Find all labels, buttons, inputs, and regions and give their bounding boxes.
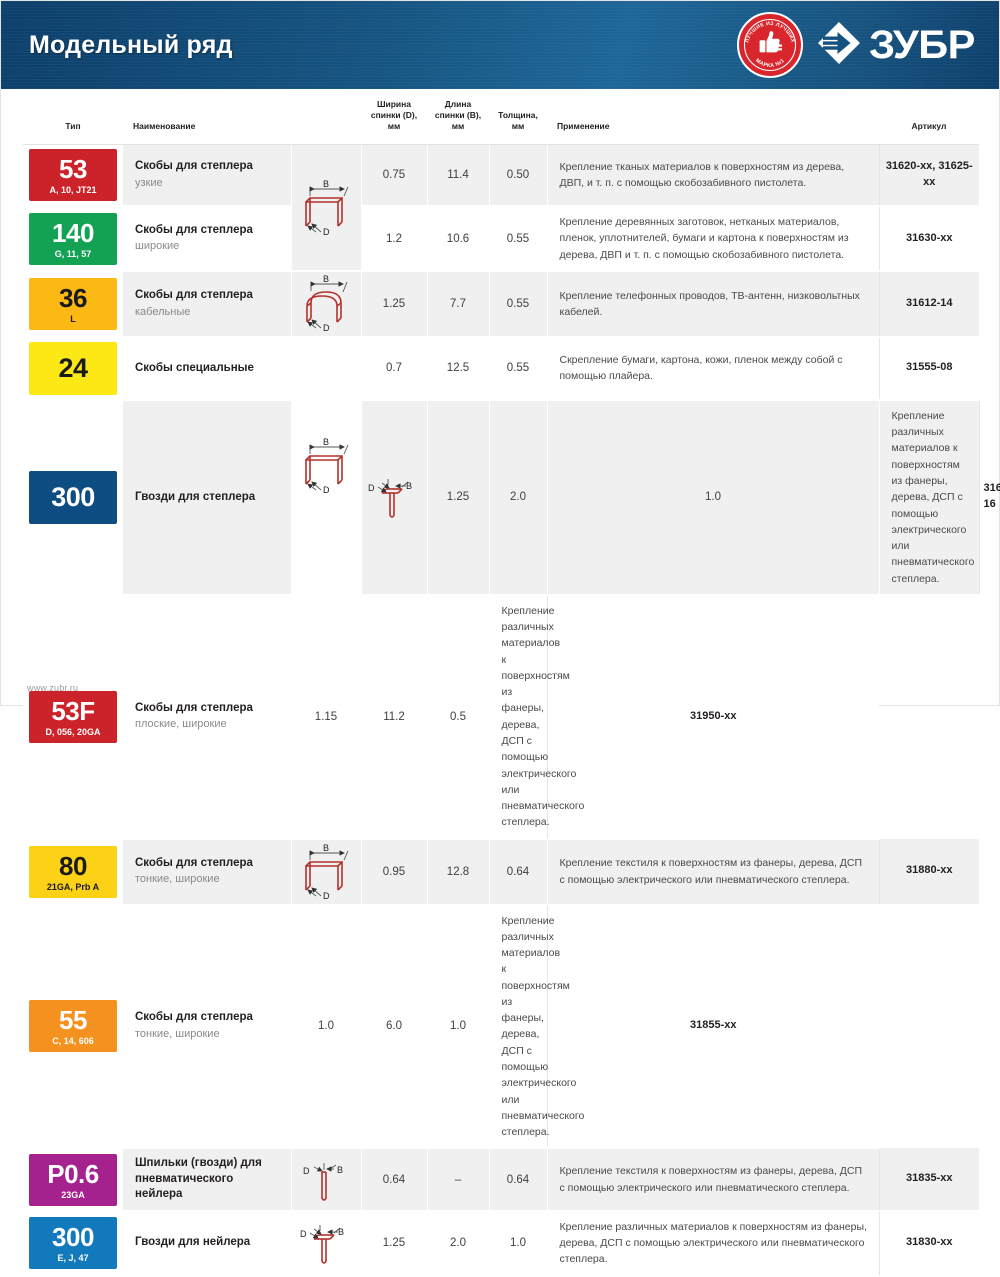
cell-diagram: BD bbox=[361, 400, 427, 595]
col-header-picture bbox=[291, 89, 361, 145]
product-name: Скобы специальные bbox=[135, 361, 283, 377]
cell-type: 53FD, 056, 20GA bbox=[23, 595, 123, 839]
type-badge-number: 53F bbox=[31, 698, 115, 724]
table-row: 55C, 14, 606Скобы для степлератонкие, ши… bbox=[23, 905, 979, 1149]
table-row: 300Гвозди для степлераBD1.252.01.0Крепле… bbox=[23, 400, 979, 595]
cell-thickness: 0.55 bbox=[489, 271, 547, 337]
table-row: 53FD, 056, 20GAСкобы для степлераплоские… bbox=[23, 595, 979, 839]
type-badge: 300 bbox=[29, 471, 117, 524]
type-badge: 24 bbox=[29, 342, 117, 395]
footer-website: www.zubr.ru bbox=[27, 683, 78, 693]
cell-length: 7.7 bbox=[427, 271, 489, 337]
staple-square-icon: BD bbox=[292, 434, 361, 498]
svg-text:D: D bbox=[303, 1166, 310, 1176]
type-badge: 140G, 11, 57 bbox=[29, 213, 117, 265]
svg-text:D: D bbox=[323, 891, 330, 901]
model-range-table: Тип Наименование Ширина спинки (D), мм Д… bbox=[23, 89, 979, 1277]
cell-application: Крепление деревянных заготовок, нетканых… bbox=[547, 206, 879, 271]
cell-width: 0.64 bbox=[361, 1148, 427, 1211]
brand-name: ЗУБР bbox=[869, 25, 975, 65]
product-subtitle: тонкие, широкие bbox=[135, 1027, 283, 1042]
svg-text:B: B bbox=[337, 1165, 343, 1175]
cell-application: Крепление различных материалов к поверхн… bbox=[489, 905, 547, 1149]
cell-diagram: BD bbox=[291, 145, 361, 271]
cell-name: Скобы для степлераузкие bbox=[123, 145, 291, 207]
brand-logo: ЛУЧШИЕ ИЗ ЛУЧШИХ МАРКА №1 bbox=[737, 12, 973, 78]
cell-length: 12.8 bbox=[427, 839, 489, 905]
svg-text:D: D bbox=[368, 483, 375, 493]
cell-article: 31630-xx bbox=[879, 206, 979, 271]
type-badge-subcodes: E, J, 47 bbox=[31, 1254, 115, 1263]
cell-type: P0.623GA bbox=[23, 1148, 123, 1211]
cell-type: 36L bbox=[23, 271, 123, 337]
cell-type: 140G, 11, 57 bbox=[23, 206, 123, 271]
cell-article: 31855-xx bbox=[547, 905, 879, 1149]
cell-diagram: BD bbox=[291, 839, 361, 905]
cell-type: 8021GA, Prb A bbox=[23, 839, 123, 905]
col-header-article: Артикул bbox=[879, 89, 979, 145]
type-badge-subcodes: A, 10, JT21 bbox=[31, 186, 115, 195]
type-badge-number: 24 bbox=[31, 355, 115, 382]
cell-article: 31880-xx bbox=[879, 839, 979, 905]
cell-name: Скобы для степлераширокие bbox=[123, 206, 291, 271]
cell-type: 300 bbox=[23, 400, 123, 595]
cell-name: Скобы для степлеракабельные bbox=[123, 271, 291, 337]
cell-thickness: 0.55 bbox=[489, 337, 547, 400]
cell-width: 1.15 bbox=[291, 595, 361, 839]
cell-name: Скобы для степлераплоские, широкие bbox=[123, 595, 291, 839]
type-badge-number: 53 bbox=[31, 156, 115, 182]
col-header-thickness-line2: мм bbox=[512, 121, 525, 131]
cell-length: 11.2 bbox=[361, 595, 427, 839]
page-header: Модельный ряд bbox=[1, 1, 999, 89]
svg-text:B: B bbox=[323, 274, 329, 284]
type-badge-number: 55 bbox=[31, 1007, 115, 1033]
product-name: Гвозди для нейлера bbox=[135, 1235, 283, 1251]
cell-application: Крепление различных материалов к поверхн… bbox=[489, 595, 547, 839]
cell-application: Крепление телефонных проводов, ТВ-антенн… bbox=[547, 271, 879, 337]
svg-text:B: B bbox=[406, 481, 412, 491]
model-range-sheet: Модельный ряд bbox=[0, 0, 1000, 706]
cell-name: Скобы для степлератонкие, широкие bbox=[123, 839, 291, 905]
cell-article: 31950-xx bbox=[547, 595, 879, 839]
svg-text:B: B bbox=[323, 843, 329, 853]
cell-thickness: 1.0 bbox=[427, 905, 489, 1149]
svg-text:D: D bbox=[323, 485, 330, 495]
col-header-application: Применение bbox=[547, 89, 879, 145]
cell-width: 1.25 bbox=[361, 1211, 427, 1276]
col-header-thickness-line1: Толщина, bbox=[498, 110, 538, 120]
type-badge-number: P0.6 bbox=[31, 1161, 115, 1187]
product-name: Скобы для степлера bbox=[135, 159, 283, 175]
col-header-thickness: Толщина, мм bbox=[489, 89, 547, 145]
quality-seal-icon: ЛУЧШИЕ ИЗ ЛУЧШИХ МАРКА №1 bbox=[737, 12, 803, 78]
cell-application: Крепление текстиля к поверхностям из фан… bbox=[547, 839, 879, 905]
table-row: 24Скобы специальныеBD0.712.50.55Скреплен… bbox=[23, 337, 979, 400]
staple-square-icon: BD bbox=[292, 176, 361, 240]
type-badge-subcodes: D, 056, 20GA bbox=[31, 728, 115, 737]
svg-text:B: B bbox=[323, 179, 329, 189]
type-badge-number: 80 bbox=[31, 853, 115, 879]
staple-round-icon: BD bbox=[292, 272, 361, 336]
cell-application: Крепление тканых материалов к поверхност… bbox=[547, 145, 879, 207]
type-badge-number: 300 bbox=[31, 1224, 115, 1250]
nail-t-icon: BD bbox=[362, 467, 427, 527]
cell-length: 10.6 bbox=[427, 206, 489, 271]
cell-name: Гвозди для степлера bbox=[123, 400, 291, 595]
product-name: Скобы для степлера bbox=[135, 223, 283, 239]
svg-text:D: D bbox=[323, 323, 330, 333]
cell-width: 1.25 bbox=[427, 400, 489, 595]
cell-width: 1.2 bbox=[361, 206, 427, 271]
table-row: 8021GA, Prb AСкобы для степлератонкие, ш… bbox=[23, 839, 979, 905]
table-row: 140G, 11, 57Скобы для степлераширокие1.2… bbox=[23, 206, 979, 271]
type-badge-subcodes: C, 14, 606 bbox=[31, 1037, 115, 1046]
product-subtitle: широкие bbox=[135, 239, 283, 254]
cell-diagram: BD bbox=[291, 271, 361, 337]
cell-thickness: 0.64 bbox=[489, 1148, 547, 1211]
product-name: Гвозди для степлера bbox=[135, 490, 283, 506]
col-header-name: Наименование bbox=[123, 89, 291, 145]
col-header-width-line2: спинки (D), мм bbox=[371, 110, 417, 131]
svg-text:D: D bbox=[300, 1229, 307, 1239]
cell-type: 300E, J, 47 bbox=[23, 1211, 123, 1276]
cell-name: Шпильки (гвозди) для пневматического ней… bbox=[123, 1148, 291, 1211]
cell-type: 53A, 10, JT21 bbox=[23, 145, 123, 207]
col-header-length-line2: спинки (B), мм bbox=[435, 110, 481, 131]
cell-name: Гвозди для нейлера bbox=[123, 1211, 291, 1276]
type-badge: P0.623GA bbox=[29, 1154, 117, 1206]
table-row: 53A, 10, JT21Скобы для степлераузкиеBD0.… bbox=[23, 145, 979, 207]
type-badge: 300E, J, 47 bbox=[29, 1217, 117, 1269]
cell-thickness: 0.50 bbox=[489, 145, 547, 207]
cell-thickness: 0.55 bbox=[489, 206, 547, 271]
svg-text:B: B bbox=[323, 437, 329, 447]
cell-type: 55C, 14, 606 bbox=[23, 905, 123, 1149]
type-badge: 53FD, 056, 20GA bbox=[29, 691, 117, 743]
type-badge-number: 300 bbox=[31, 484, 115, 511]
cell-thickness: 0.64 bbox=[489, 839, 547, 905]
type-badge-subcodes: 21GA, Prb A bbox=[31, 883, 115, 892]
cell-width: 0.7 bbox=[361, 337, 427, 400]
type-badge-subcodes: 23GA bbox=[31, 1191, 115, 1200]
cell-article: 31830-xx bbox=[879, 1211, 979, 1276]
nail-t-icon: BD bbox=[292, 1213, 361, 1273]
cell-thickness: 1.0 bbox=[489, 1211, 547, 1276]
cell-application: Крепление различных материалов к поверхн… bbox=[879, 400, 979, 595]
cell-length: 6.0 bbox=[361, 905, 427, 1149]
type-badge: 36L bbox=[29, 278, 117, 330]
table-body: 53A, 10, JT21Скобы для степлераузкиеBD0.… bbox=[23, 145, 979, 1276]
page-title: Модельный ряд bbox=[29, 31, 233, 60]
product-name: Скобы для степлера bbox=[135, 288, 283, 304]
cell-application: Скрепление бумаги, картона, кожи, пленок… bbox=[547, 337, 879, 400]
svg-text:D: D bbox=[323, 227, 330, 237]
table-row: 36LСкобы для степлеракабельныеBD1.257.70… bbox=[23, 271, 979, 337]
product-subtitle: кабельные bbox=[135, 305, 283, 320]
cell-length: 2.0 bbox=[427, 1211, 489, 1276]
product-name: Скобы для степлера bbox=[135, 1010, 283, 1026]
cell-article: 31612-14 bbox=[879, 271, 979, 337]
type-badge: 55C, 14, 606 bbox=[29, 1000, 117, 1052]
pin-straight-icon: BD bbox=[292, 1152, 361, 1208]
table-row: P0.623GAШпильки (гвозди) для пневматичес… bbox=[23, 1148, 979, 1211]
cell-width: 0.95 bbox=[361, 839, 427, 905]
product-name: Скобы для степлера bbox=[135, 856, 283, 872]
type-badge-subcodes: G, 11, 57 bbox=[31, 250, 115, 259]
cell-thickness: 1.0 bbox=[547, 400, 879, 595]
cell-name: Скобы для степлератонкие, широкие bbox=[123, 905, 291, 1149]
cell-application: Крепление текстиля к поверхностям из фан… bbox=[547, 1148, 879, 1211]
cell-diagram: BD bbox=[291, 337, 361, 595]
cell-article: 31620-xx, 31625-xx bbox=[879, 145, 979, 207]
col-header-length-line1: Длина bbox=[445, 99, 472, 109]
cell-diagram: BD bbox=[291, 1148, 361, 1211]
product-name: Скобы для степлера bbox=[135, 701, 283, 717]
staple-square-icon: BD bbox=[292, 840, 361, 904]
type-badge-number: 36 bbox=[31, 285, 115, 311]
cell-length: 11.4 bbox=[427, 145, 489, 207]
product-subtitle: узкие bbox=[135, 176, 283, 191]
cell-article: 31555-08 bbox=[879, 337, 979, 400]
zubr-arrow-icon bbox=[817, 21, 861, 70]
type-badge: 53A, 10, JT21 bbox=[29, 149, 117, 201]
cell-type: 24 bbox=[23, 337, 123, 400]
cell-width: 1.0 bbox=[291, 905, 361, 1149]
product-name: Шпильки (гвозди) для пневматического ней… bbox=[135, 1156, 283, 1203]
table-header-row: Тип Наименование Ширина спинки (D), мм Д… bbox=[23, 89, 979, 145]
product-subtitle: плоские, широкие bbox=[135, 717, 283, 732]
cell-name: Скобы специальные bbox=[123, 337, 291, 400]
type-badge-subcodes: L bbox=[31, 315, 115, 324]
cell-length: – bbox=[427, 1148, 489, 1211]
col-header-width: Ширина спинки (D), мм bbox=[361, 89, 427, 145]
type-badge-number: 140 bbox=[31, 220, 115, 246]
cell-width: 1.25 bbox=[361, 271, 427, 337]
product-subtitle: тонкие, широкие bbox=[135, 872, 283, 887]
cell-length: 12.5 bbox=[427, 337, 489, 400]
table-row: 300E, J, 47Гвозди для нейлераBD1.252.01.… bbox=[23, 1211, 979, 1276]
cell-article: 31835-xx bbox=[879, 1148, 979, 1211]
svg-text:B: B bbox=[338, 1227, 344, 1237]
col-header-width-line1: Ширина bbox=[377, 99, 411, 109]
cell-width: 0.75 bbox=[361, 145, 427, 207]
cell-application: Крепление различных материалов к поверхн… bbox=[547, 1211, 879, 1276]
cell-thickness: 0.5 bbox=[427, 595, 489, 839]
spec-table-container: Тип Наименование Ширина спинки (D), мм Д… bbox=[1, 89, 999, 1277]
zubr-wordmark-lockup: ЗУБР bbox=[817, 21, 973, 70]
col-header-length: Длина спинки (B), мм bbox=[427, 89, 489, 145]
cell-diagram: BD bbox=[291, 1211, 361, 1276]
col-header-type: Тип bbox=[23, 89, 123, 145]
type-badge: 8021GA, Prb A bbox=[29, 846, 117, 898]
cell-length: 2.0 bbox=[489, 400, 547, 595]
